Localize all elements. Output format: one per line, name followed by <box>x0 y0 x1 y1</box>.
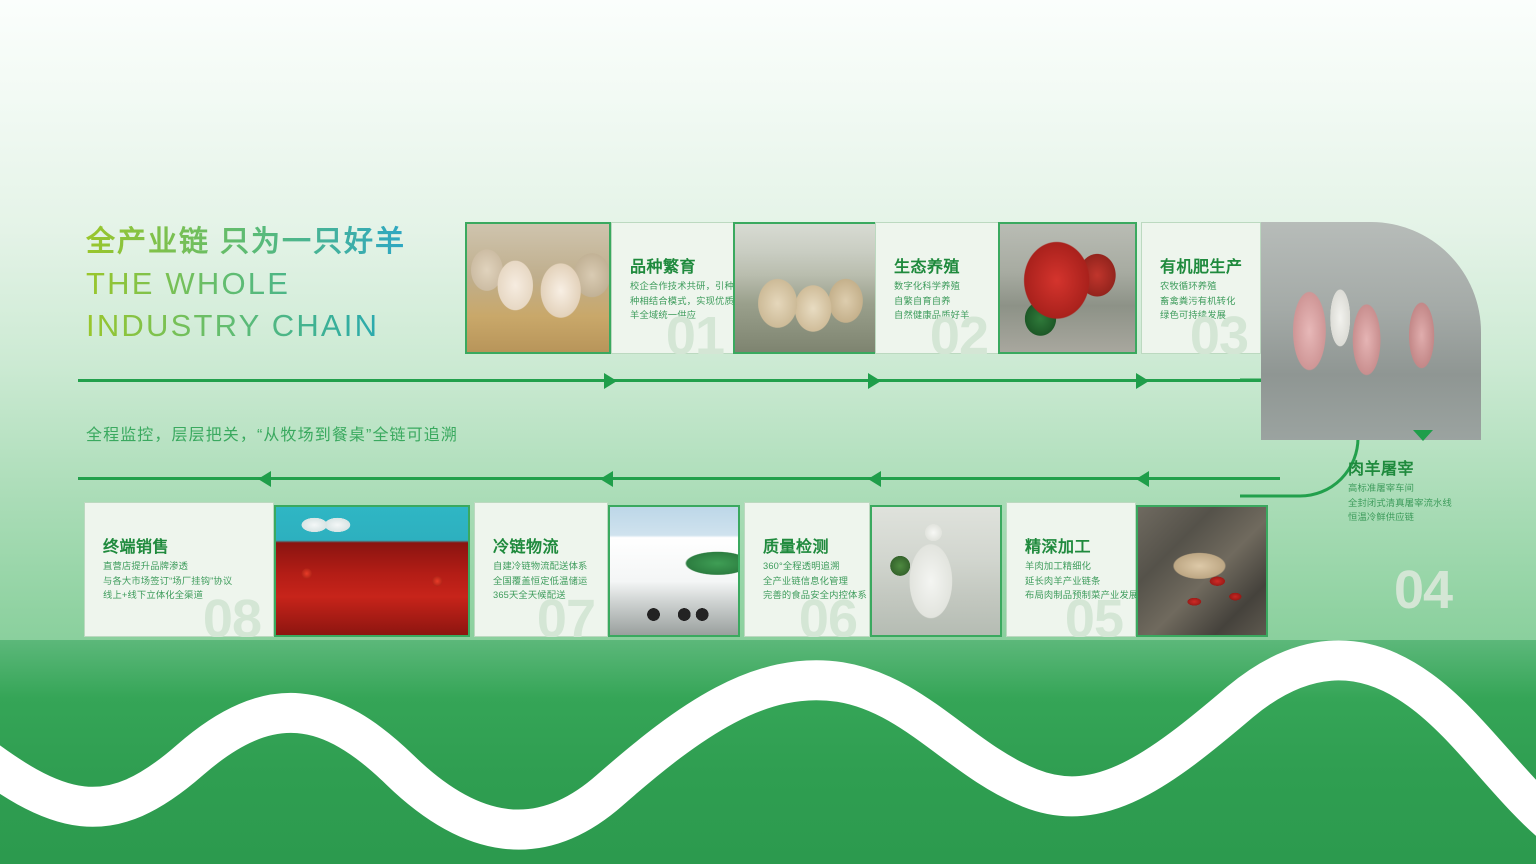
step-card-04[interactable]: 肉羊屠宰 高标准屠宰车间 全封闭式清真屠宰流水线 恒温冷鲜供应链 04 <box>1342 443 1536 643</box>
step-card-06-panel: 质量检测 360°全程透明追溯 全产业链信息化管理 完善的食品安全内控体系 06 <box>744 502 870 637</box>
step-card-04-number: 04 <box>1394 563 1452 617</box>
photo-card-04 <box>1261 222 1481 440</box>
headline-chinese: 全产业链 只为一只好羊 <box>86 224 506 261</box>
step-card-01-title: 品种繁育 <box>630 253 696 277</box>
step-card-06-number: 06 <box>799 592 857 637</box>
headline-english-line1: THE WHOLE <box>86 265 506 303</box>
step-card-05-panel: 精深加工 羊肉加工精细化 延长肉羊产业链条 布局肉制品预制菜产业发展 05 <box>1006 502 1136 637</box>
step-card-04-line-2: 全封闭式清真屠宰流水线 <box>1348 496 1452 511</box>
processed-food-photo <box>1136 505 1268 637</box>
step-card-06-line-2: 全产业链信息化管理 <box>763 574 867 589</box>
photo-card-06 <box>870 505 1002 637</box>
step-card-01[interactable]: 品种繁育 校企合作技术共研，引种育 种相结合模式，实现优质羔 羊全域统一供应 0… <box>611 222 737 354</box>
step-card-05-number: 05 <box>1065 592 1123 637</box>
tagline-text: 全程监控，层层把关，“从牧场到餐桌”全链可追溯 <box>86 421 458 445</box>
step-card-05-title: 精深加工 <box>1025 533 1091 557</box>
step-card-05-line-1: 羊肉加工精细化 <box>1025 559 1136 574</box>
step-card-06[interactable]: 质量检测 360°全程透明追溯 全产业链信息化管理 完善的食品安全内控体系 06 <box>744 502 870 637</box>
cold-chain-truck-photo <box>608 505 740 637</box>
step-card-03-line-1: 农牧循环养殖 <box>1160 279 1236 294</box>
step-card-04-title: 肉羊屠宰 <box>1348 455 1414 479</box>
arrow-right-icon-2 <box>868 373 881 389</box>
step-card-07[interactable]: 冷链物流 自建冷链物流配送体系 全国覆盖恒定低温储运 365天全天候配送 07 <box>474 502 608 637</box>
step-card-01-number: 01 <box>666 309 724 354</box>
step-card-03-title: 有机肥生产 <box>1160 253 1243 277</box>
step-card-07-line-2: 全国覆盖恒定低温储运 <box>493 574 587 589</box>
step-card-02-number: 02 <box>930 309 988 354</box>
lab-inspection-photo <box>870 505 1002 637</box>
step-card-07-number: 07 <box>537 592 595 637</box>
arrow-left-icon-3 <box>868 471 881 487</box>
photo-card-07 <box>608 505 740 637</box>
step-card-02[interactable]: 生态养殖 数字化科学养殖 自繁自育自养 自然健康品质好羊 02 <box>875 222 1001 354</box>
step-card-08-line-1: 直营店提升品牌渗透 <box>103 559 232 574</box>
step-card-03-number: 03 <box>1190 309 1248 354</box>
step-card-08-title: 终端销售 <box>103 533 169 557</box>
retail-store-photo <box>274 505 470 637</box>
step-card-03-panel: 有机肥生产 农牧循环养殖 畜禽粪污有机转化 绿色可持续发展 03 <box>1141 222 1261 354</box>
infographic-stage: 全产业链 只为一只好羊 THE WHOLE INDUSTRY CHAIN 全程监… <box>0 0 1536 864</box>
arrow-right-icon-3 <box>1136 373 1149 389</box>
step-card-02-panel: 生态养殖 数字化科学养殖 自繁自育自养 自然健康品质好羊 02 <box>875 222 1001 354</box>
step-card-04-line-3: 恒温冷鲜供应链 <box>1348 510 1452 525</box>
step-card-01-panel: 品种繁育 校企合作技术共研，引种育 种相结合模式，实现优质羔 羊全域统一供应 0… <box>611 222 737 354</box>
step-card-07-panel: 冷链物流 自建冷链物流配送体系 全国覆盖恒定低温储运 365天全天候配送 07 <box>474 502 608 637</box>
arrow-left-icon-2 <box>600 471 613 487</box>
photo-card-02 <box>733 222 879 354</box>
step-card-07-title: 冷链物流 <box>493 533 559 557</box>
headline-english-line2: INDUSTRY CHAIN <box>86 307 506 345</box>
step-card-08-panel: 终端销售 直营店提升品牌渗透 与各大市场签订“场厂挂钩”协议 线上+线下立体化全… <box>84 502 274 637</box>
arrow-right-icon-1 <box>604 373 617 389</box>
step-card-04-lines: 高标准屠宰车间 全封闭式清真屠宰流水线 恒温冷鲜供应链 <box>1348 481 1452 525</box>
step-card-02-title: 生态养殖 <box>894 253 960 277</box>
arrow-down-icon <box>1413 430 1433 441</box>
step-card-02-line-1: 数字化科学养殖 <box>894 279 970 294</box>
photo-card-03 <box>998 222 1137 354</box>
photo-card-05 <box>1136 505 1268 637</box>
photo-card-08 <box>274 505 470 637</box>
step-card-08[interactable]: 终端销售 直营店提升品牌渗透 与各大市场签订“场厂挂钩”协议 线上+线下立体化全… <box>84 502 274 637</box>
step-card-07-line-1: 自建冷链物流配送体系 <box>493 559 587 574</box>
arrow-left-icon-1 <box>258 471 271 487</box>
step-card-03[interactable]: 有机肥生产 农牧循环养殖 畜禽粪污有机转化 绿色可持续发展 03 <box>1141 222 1261 354</box>
sheep-barn-photo <box>733 222 879 354</box>
arrow-left-icon-4 <box>1136 471 1149 487</box>
step-card-05[interactable]: 精深加工 羊肉加工精细化 延长肉羊产业链条 布局肉制品预制菜产业发展 05 <box>1006 502 1136 637</box>
headline-block: 全产业链 只为一只好羊 THE WHOLE INDUSTRY CHAIN <box>86 224 506 345</box>
photo-card-01 <box>465 222 611 354</box>
step-card-05-line-2: 延长肉羊产业链条 <box>1025 574 1136 589</box>
sheep-lambs-photo <box>465 222 611 354</box>
flow-line-top <box>78 379 1280 382</box>
step-card-04-line-1: 高标准屠宰车间 <box>1348 481 1452 496</box>
step-card-01-line-1: 校企合作技术共研，引种育 <box>630 279 737 294</box>
step-card-08-number: 08 <box>203 592 261 637</box>
step-card-06-title: 质量检测 <box>763 533 829 557</box>
slaughter-line-photo <box>1261 222 1481 440</box>
step-card-06-line-1: 360°全程透明追溯 <box>763 559 867 574</box>
fertilizer-machine-photo <box>998 222 1137 354</box>
step-card-08-line-2: 与各大市场签订“场厂挂钩”协议 <box>103 574 232 589</box>
wave-decoration <box>0 620 1536 864</box>
